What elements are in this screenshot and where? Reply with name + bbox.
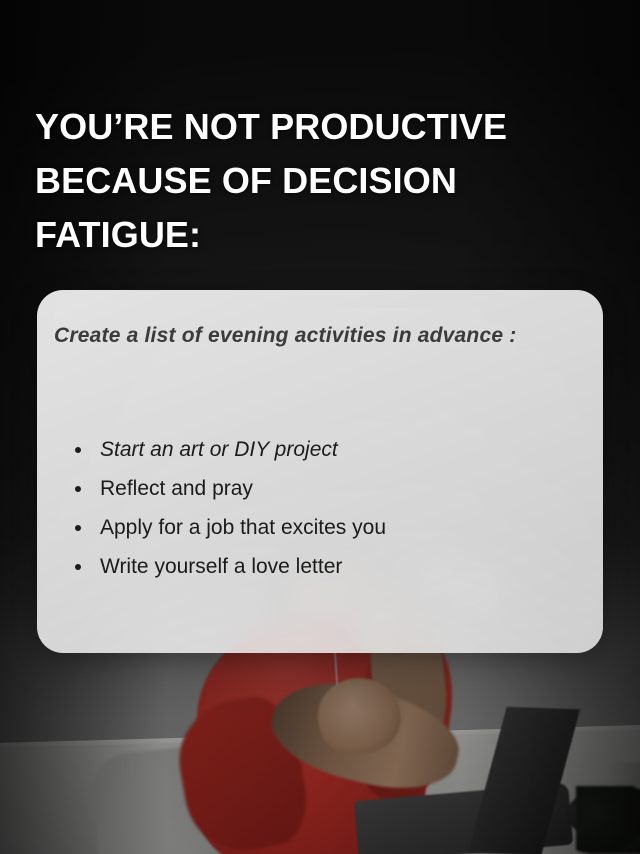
list-item: Reflect and pray [75,469,575,508]
list-item-label: Start an art or DIY project [100,438,338,461]
list-item-label: Apply for a job that excites you [100,516,386,539]
list-item-label: Write yourself a love letter [100,555,342,578]
list-item-label: Reflect and pray [100,477,253,500]
card-heading: Create a list of evening activities in a… [54,317,524,354]
content-card: Create a list of evening activities in a… [37,290,603,653]
headline: YOU’RE NOT PRODUCTIVE BECAUSE OF DECISIO… [35,100,575,262]
list-item: Start an art or DIY project [75,430,575,469]
list-item: Write yourself a love letter [75,547,575,586]
list-item: Apply for a job that excites you [75,508,575,547]
activity-list: Start an art or DIY project Reflect and … [75,430,575,586]
post-canvas: YOU’RE NOT PRODUCTIVE BECAUSE OF DECISIO… [0,0,640,854]
